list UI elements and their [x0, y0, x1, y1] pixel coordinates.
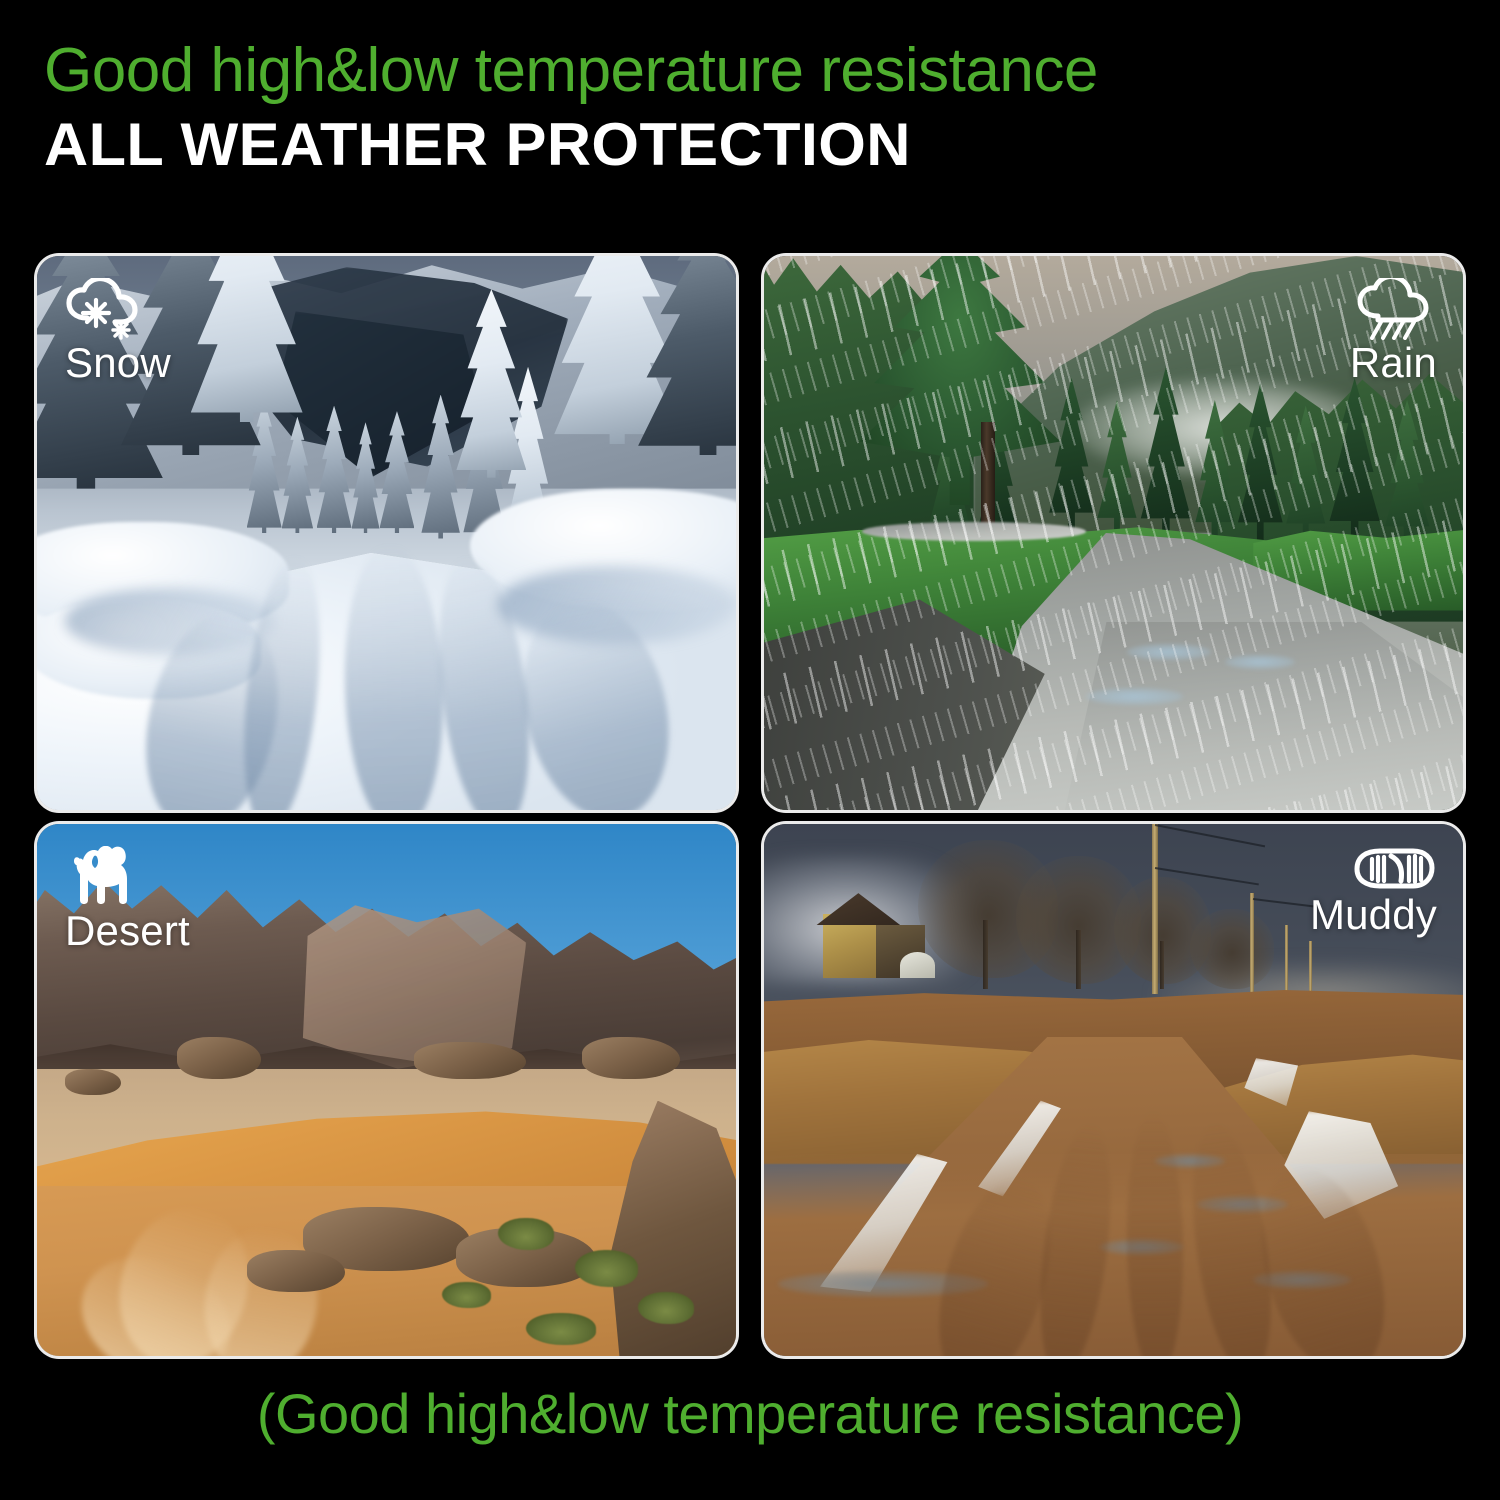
panel-desert[interactable]: Desert	[37, 824, 736, 1356]
camel-icon	[63, 846, 155, 908]
panel-label-desert: Desert	[63, 846, 190, 954]
headline-secondary: ALL WEATHER PROTECTION	[44, 112, 1492, 178]
footer-caption: (Good high&low temperature resistance)	[0, 1382, 1500, 1446]
panel-label-text: Rain	[1350, 340, 1437, 386]
boot-print-icon	[1339, 846, 1437, 892]
panel-rain[interactable]: Rain	[764, 256, 1463, 810]
panel-label-snow: Snow	[63, 278, 171, 386]
headline-primary: Good high&low temperature resistance	[44, 36, 1464, 106]
panel-label-text: Muddy	[1310, 892, 1437, 938]
panel-muddy[interactable]: Muddy	[764, 824, 1463, 1356]
weather-panel-grid: Snow	[37, 256, 1463, 1356]
panel-label-text: Desert	[65, 908, 190, 954]
cloud-snow-icon	[63, 278, 149, 340]
cloud-rain-icon	[1351, 278, 1437, 340]
header: Good high&low temperature resistance ALL…	[44, 36, 1464, 178]
panel-label-rain: Rain	[1350, 278, 1437, 386]
panel-snow[interactable]: Snow	[37, 256, 736, 810]
panel-label-text: Snow	[65, 340, 171, 386]
panel-label-muddy: Muddy	[1310, 846, 1437, 938]
